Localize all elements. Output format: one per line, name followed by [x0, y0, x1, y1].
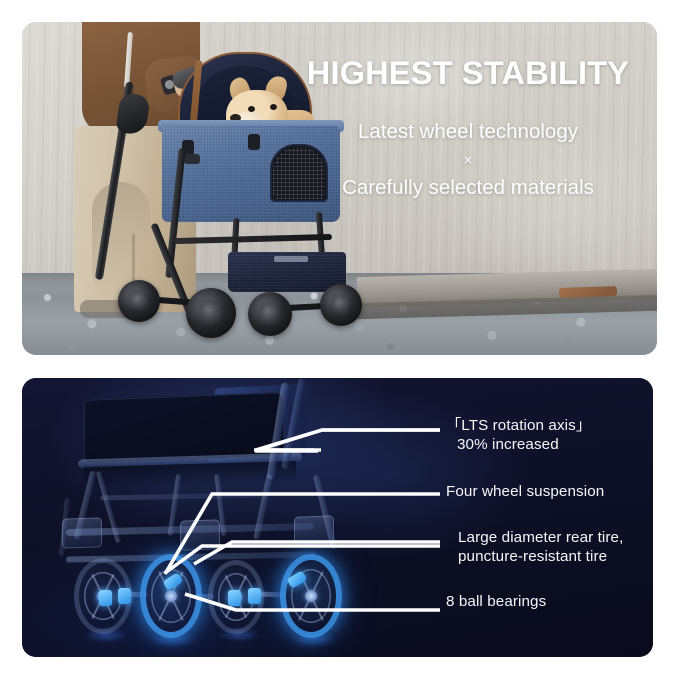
leader-4-eight-ball-bearings [185, 594, 440, 610]
leader-line-four-wheel-suspension-a [165, 546, 440, 573]
stroller-wheel [186, 288, 236, 338]
stroller-wheel [320, 284, 362, 326]
stroller-wheel [248, 292, 292, 336]
leader-line-hidden [200, 490, 440, 546]
callout-2-line-1: Four wheel suspension [446, 482, 604, 501]
callout-3-line-1: Large diameter rear tire, [458, 528, 623, 547]
carrier-buckle [248, 134, 260, 150]
callout-label-large-diameter-rear-tire: Large diameter rear tire, puncture-resis… [458, 528, 623, 567]
top-panel-lifestyle-photo: HIGHEST STABILITY Latest wheel technolog… [22, 22, 657, 355]
page-title: HIGHEST STABILITY [290, 56, 646, 90]
dog-eye-left [248, 106, 255, 112]
multiply-separator: × [290, 152, 646, 169]
subtitle-line-2: Carefully selected materials [290, 176, 646, 201]
callout-label-four-wheel-suspension: Four wheel suspension [446, 482, 604, 501]
callout-3-line-2: puncture-resistant tire [458, 547, 623, 566]
bottom-panel-technical-diagram: 「LTS rotation axis」 30% increased Four w… [22, 378, 653, 657]
stroller-wheel [118, 280, 160, 322]
callout-1-line-1: 「LTS rotation axis」 [446, 416, 591, 435]
dog-eye-right [270, 104, 277, 110]
rust-stain [559, 286, 617, 298]
callout-4-line-1: 8 ball bearings [446, 592, 546, 611]
callout-label-eight-ball-bearings: 8 ball bearings [446, 592, 546, 611]
callout-label-lts-rotation-axis: 「LTS rotation axis」 30% increased [446, 416, 591, 455]
headline-block: HIGHEST STABILITY Latest wheel technolog… [290, 56, 646, 200]
product-feature-infographic: HIGHEST STABILITY Latest wheel technolog… [0, 0, 679, 679]
subtitle-line-1: Latest wheel technology [290, 120, 646, 145]
callout-1-line-2: 30% increased [446, 435, 591, 454]
carrier-clip [184, 154, 200, 164]
brand-logo [274, 256, 308, 262]
